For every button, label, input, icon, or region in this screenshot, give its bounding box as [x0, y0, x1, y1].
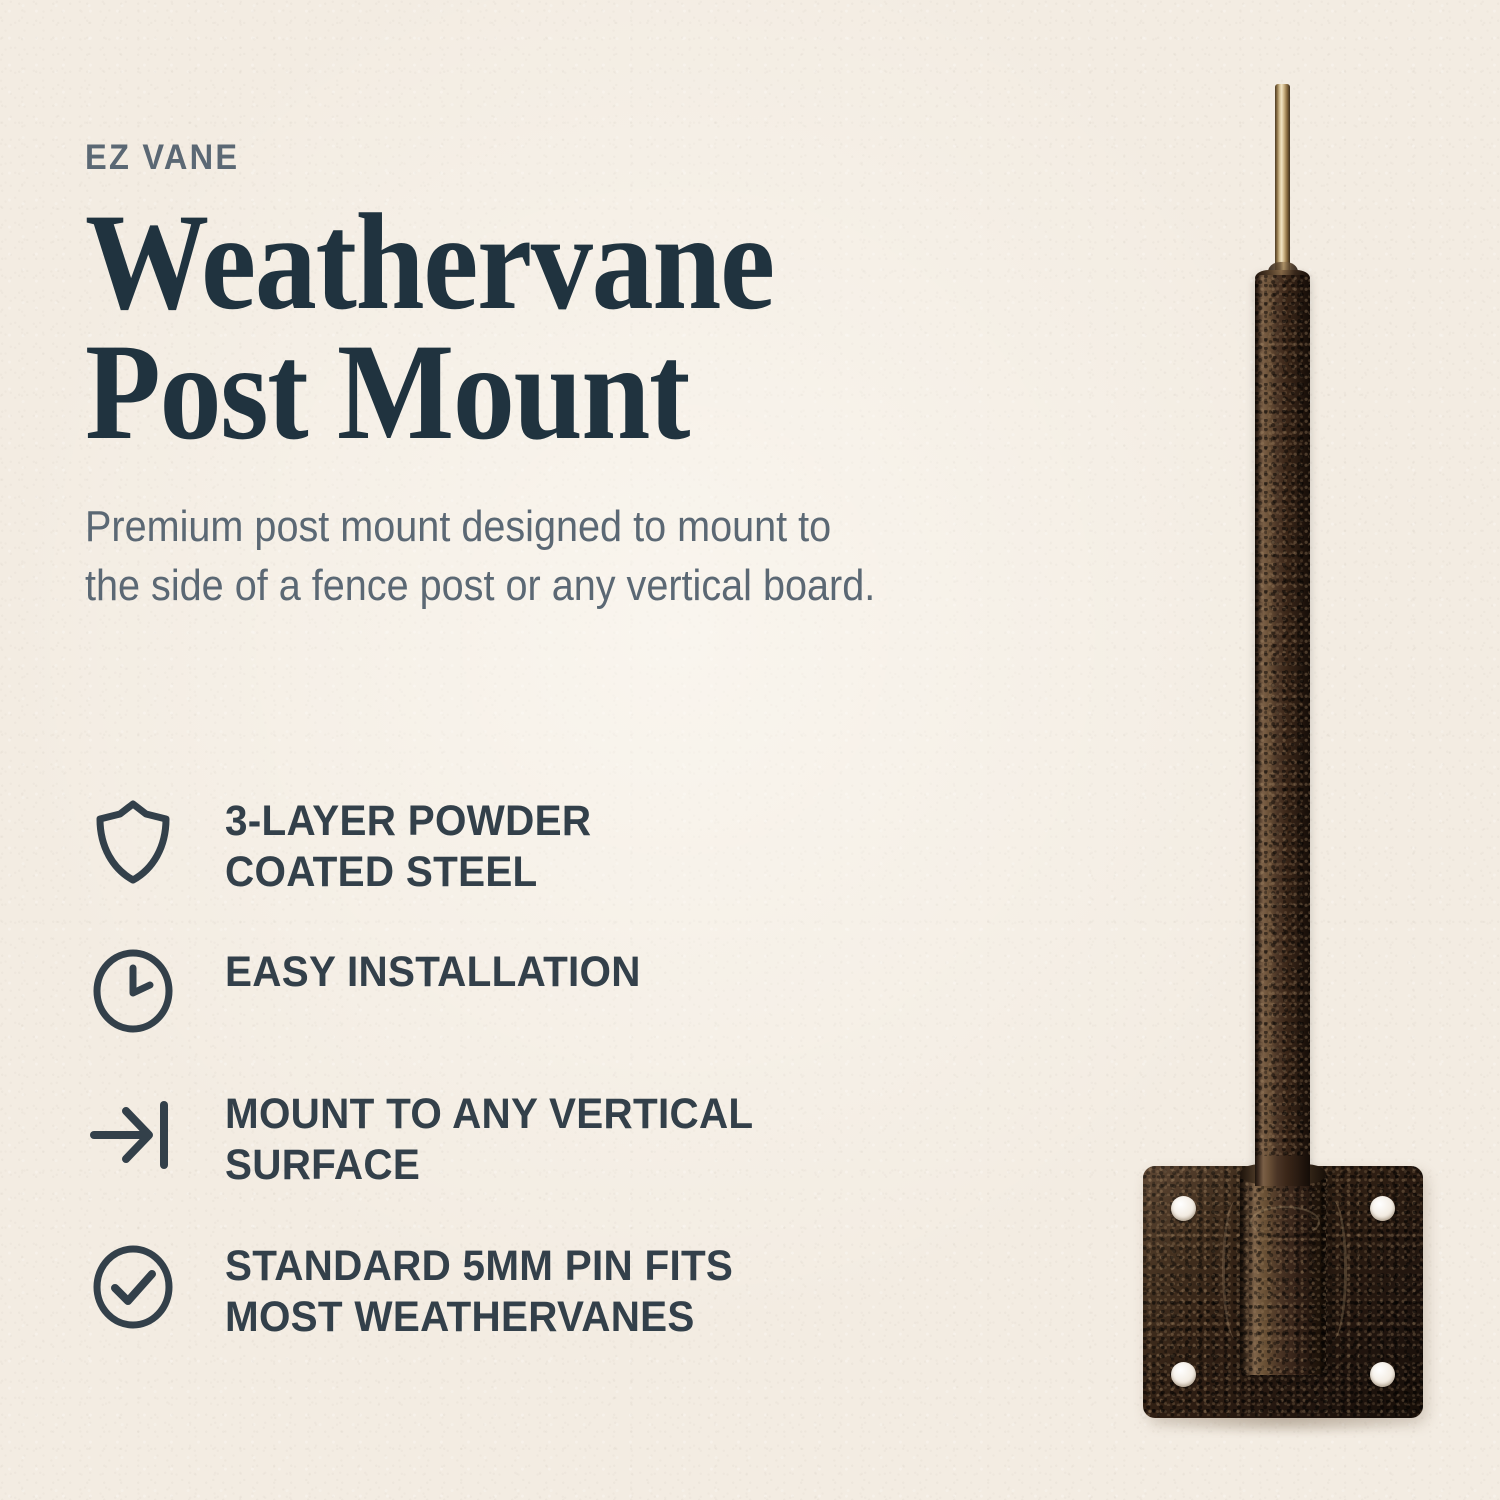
sleeve-weld-mark	[1250, 1206, 1320, 1238]
feature-label: MOUNT TO ANY VERTICAL SURFACE	[225, 1085, 753, 1190]
feature-list: 3-LAYER POWDER COATED STEEL EASY INSTALL…	[85, 792, 1035, 1342]
page-title-line-1: Weathervane	[85, 197, 1003, 327]
page-title: Weathervane Post Mount	[85, 197, 1003, 456]
feature-label: 3-LAYER POWDER COATED STEEL	[225, 792, 591, 897]
brand-name: EZ VANE	[85, 140, 1034, 175]
mast-tube	[1255, 275, 1310, 1275]
screw-hole	[1171, 1196, 1196, 1221]
page-subtitle-line-2: the side of a fence post or any vertical…	[85, 557, 1003, 615]
mounting-sleeve	[1240, 1170, 1326, 1375]
page-subtitle-line-1: Premium post mount designed to mount to	[85, 498, 1003, 556]
arrow-to-line-icon	[85, 1087, 181, 1183]
page-title-line-2: Post Mount	[85, 327, 1003, 457]
feature-item: 3-LAYER POWDER COATED STEEL	[85, 792, 1035, 897]
hammered-texture	[1240, 1170, 1326, 1375]
hammered-texture	[1255, 275, 1310, 1275]
feature-item: MOUNT TO ANY VERTICAL SURFACE	[85, 1085, 1035, 1190]
product-infographic: EZ VANE Weathervane Post Mount Premium p…	[0, 0, 1500, 1500]
clock-icon	[85, 943, 181, 1039]
feature-item: STANDARD 5MM PIN FITS MOST WEATHERVANES	[85, 1237, 1035, 1342]
check-circle-icon	[85, 1239, 181, 1335]
feature-label: EASY INSTALLATION	[225, 943, 641, 998]
screw-hole	[1171, 1362, 1196, 1387]
page-subtitle: Premium post mount designed to mount to …	[85, 498, 1003, 614]
screw-hole	[1370, 1196, 1395, 1221]
header-block: EZ VANE Weathervane Post Mount Premium p…	[85, 140, 1105, 615]
feature-item: EASY INSTALLATION	[85, 943, 1035, 1039]
shield-icon	[85, 794, 181, 890]
screw-hole	[1370, 1362, 1395, 1387]
weathervane-post-mount-photo	[1100, 60, 1480, 1460]
feature-label: STANDARD 5MM PIN FITS MOST WEATHERVANES	[225, 1237, 733, 1342]
mast-tube-lower-segment	[1255, 1156, 1310, 1186]
